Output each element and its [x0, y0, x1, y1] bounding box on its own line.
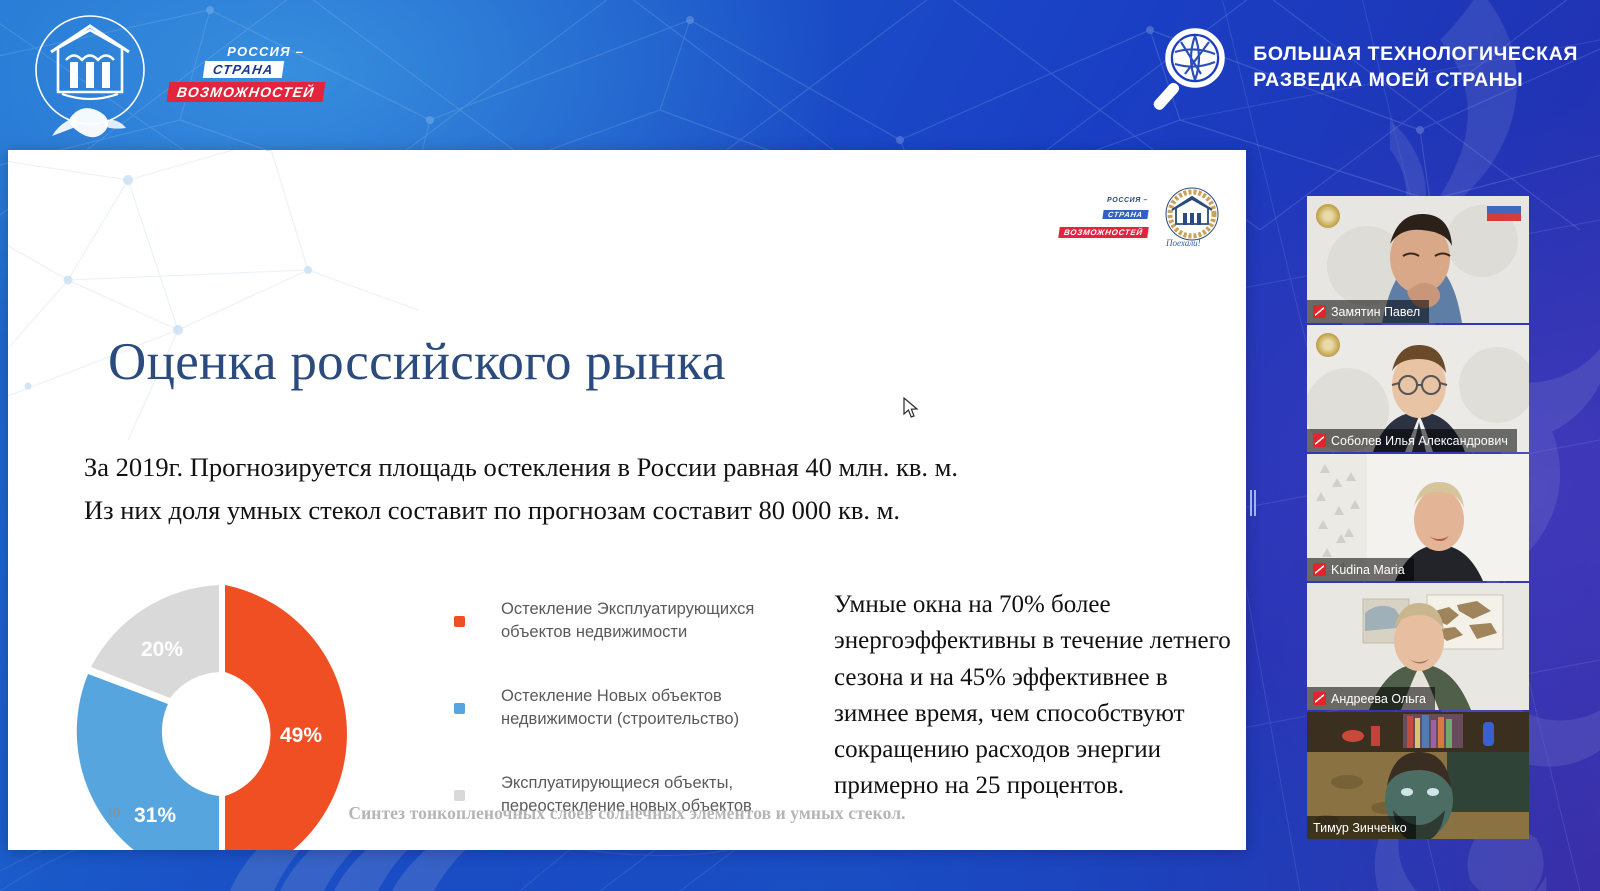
slide-msmr-caption: Поехали! — [1165, 238, 1201, 248]
zoom-icon — [1313, 434, 1326, 447]
legend-swatch-grey — [454, 790, 465, 801]
tile-logo-flag — [1487, 206, 1521, 221]
event-title: БОЛЬШАЯ ТЕХНОЛОГИЧЕСКАЯ РАЗВЕДКА МОЕЙ СТ… — [1253, 42, 1578, 94]
rsv-line-1: РОССИЯ – — [168, 44, 318, 59]
slide-rsv-line-3: ВОЗМОЖНОСТЕЙ — [1058, 227, 1148, 238]
handle-bar — [1254, 490, 1256, 516]
slide-corner-logos: РОССИЯ – СТРАНА ВОЗМОЖНОСТЕЙ Поехали! — [1059, 186, 1228, 250]
slide-msmr-emblem-icon: Поехали! — [1156, 186, 1228, 250]
slide-rsv-line-1: РОССИЯ – — [1059, 197, 1148, 204]
legend-swatch-blue — [454, 703, 465, 714]
event-title-line-1: БОЛЬШАЯ ТЕХНОЛОГИЧЕСКАЯ — [1253, 42, 1578, 68]
zoom-icon — [1313, 305, 1326, 318]
participant-tile[interactable]: Замятин Павел — [1307, 196, 1529, 323]
participant-filmstrip[interactable]: Замятин Павел Соболев Илья Александрович — [1307, 196, 1529, 841]
mouse-cursor — [903, 397, 921, 419]
donut-label-20: 20% — [141, 638, 183, 661]
participant-tile[interactable]: Андреева Ольга — [1307, 583, 1529, 710]
slide-network-decoration — [8, 150, 428, 450]
legend-swatch-orange — [454, 616, 465, 627]
slide-rsv-line-2: СТРАНА — [1103, 210, 1149, 219]
project-logo: РОССИЯ – СТРАНА ВОЗМОЖНОСТЕЙ — [18, 8, 318, 140]
tile-logo-round — [1316, 333, 1340, 357]
participant-name-badge: Kudina Maria — [1307, 558, 1414, 581]
slide-footnote: Синтез тонкопленочных слоев солнечных эл… — [8, 803, 1246, 824]
participant-name: Kudina Maria — [1331, 563, 1405, 577]
legend-label-line-1: Остекление Новых объектов — [501, 687, 722, 705]
zoom-icon — [1313, 692, 1326, 705]
participant-name-badge: Соболев Илья Александрович — [1307, 429, 1517, 452]
shared-slide[interactable]: РОССИЯ – СТРАНА ВОЗМОЖНОСТЕЙ Поехали! Оц… — [8, 150, 1246, 850]
page-title: Оценка российского рынка — [108, 332, 726, 392]
legend-label-line-2: объектов недвижимости — [501, 623, 687, 641]
tile-logo-round — [1316, 204, 1340, 228]
legend-label-line-1: Остекление Эксплуатирующихся — [501, 600, 754, 618]
rsv-wordmark: РОССИЯ – СТРАНА ВОЗМОЖНОСТЕЙ — [168, 44, 318, 102]
legend-item: Остекление Новых объектов недвижимости (… — [454, 685, 814, 732]
participant-name: Андреева Ольга — [1331, 692, 1426, 706]
legend-item: Остекление Эксплуатирующихся объектов не… — [454, 598, 814, 645]
participant-name-badge: Андреева Ольга — [1307, 687, 1435, 710]
participant-name: Соболев Илья Александрович — [1331, 434, 1508, 448]
participant-name: Замятин Павел — [1331, 305, 1420, 319]
participant-tile[interactable]: Kudina Maria — [1307, 454, 1529, 581]
slide-rsv-logo: РОССИЯ – СТРАНА ВОЗМОЖНОСТЕЙ — [1059, 197, 1148, 240]
slide-right-paragraph: Умные окна на 70% более энергоэффективны… — [834, 587, 1234, 805]
zoom-icon — [1313, 563, 1326, 576]
donut-label-49: 49% — [280, 724, 322, 747]
panel-resize-handle[interactable] — [1250, 490, 1258, 516]
slide-body-line-2: Из них доля умных стекол составит по про… — [84, 489, 1104, 532]
legend-label-line-1: Эксплуатирующиеся объекты, — [501, 774, 733, 792]
participant-tile-active[interactable]: Тимур Зинченко — [1307, 712, 1529, 839]
magnifier-globe-icon — [1145, 22, 1235, 114]
slide-body-line-1: За 2019г. Прогнозируется площадь остекле… — [84, 446, 1104, 489]
participant-name-badge: Замятин Павел — [1307, 300, 1429, 323]
participant-name: Тимур Зинченко — [1313, 821, 1407, 835]
legend-label-line-2: недвижимости (строительство) — [501, 710, 739, 728]
participant-name-badge: Тимур Зинченко — [1307, 816, 1416, 839]
event-branding: БОЛЬШАЯ ТЕХНОЛОГИЧЕСКАЯ РАЗВЕДКА МОЕЙ СТ… — [1145, 22, 1578, 114]
event-title-line-2: РАЗВЕДКА МОЕЙ СТРАНЫ — [1253, 68, 1578, 94]
participant-tile[interactable]: Соболев Илья Александрович — [1307, 325, 1529, 452]
rsv-line-3: ВОЗМОЖНОСТЕЙ — [167, 82, 325, 102]
rsv-line-2: СТРАНА — [202, 61, 283, 78]
handle-bar — [1250, 490, 1252, 516]
slide-body-text: За 2019г. Прогнозируется площадь остекле… — [84, 446, 1104, 532]
msmr-emblem-icon — [18, 8, 168, 140]
